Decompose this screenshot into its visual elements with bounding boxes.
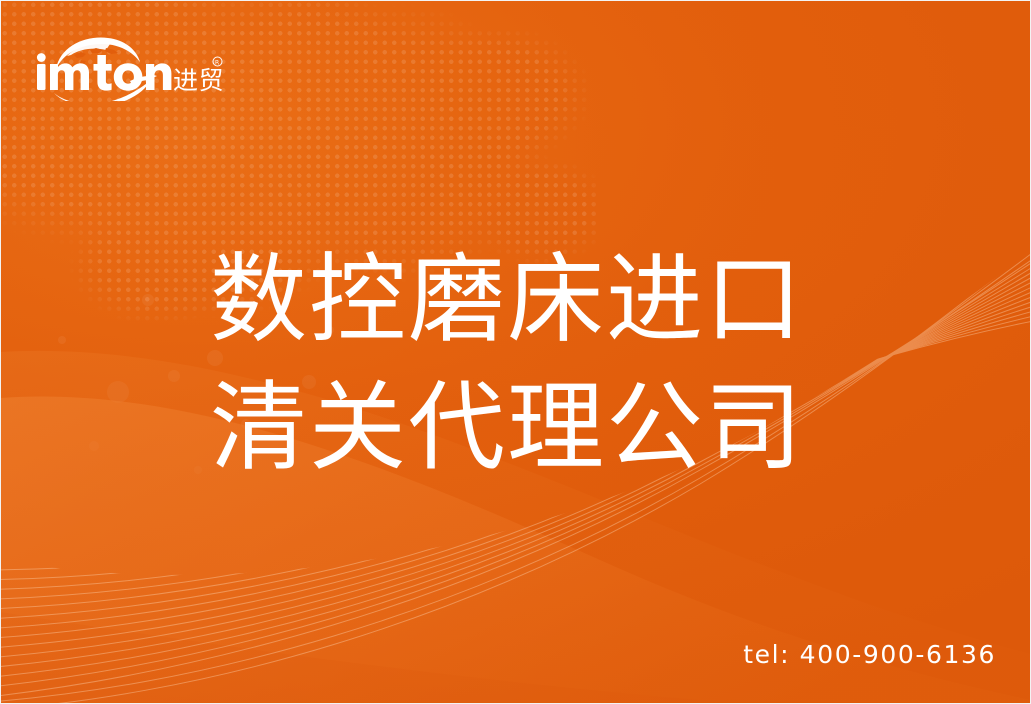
headline-line-2: 清关代理公司 bbox=[210, 364, 910, 492]
registered-trademark-letter: R bbox=[215, 60, 219, 67]
promotional-banner: 进贸通 R 数控磨床进口 清关代理公司 tel: 400-900-6136 bbox=[0, 0, 1031, 704]
contact-phone[interactable]: tel: 400-900-6136 bbox=[743, 640, 996, 669]
logo-wordmark-latin bbox=[37, 53, 172, 91]
headline-line-1: 数控磨床进口 bbox=[210, 236, 910, 364]
logo-mark: 进贸通 R bbox=[34, 33, 224, 101]
company-logo[interactable]: 进贸通 R bbox=[34, 33, 224, 101]
logo-wordmark-chinese: 进贸通 bbox=[173, 66, 224, 95]
page-title: 数控磨床进口 清关代理公司 bbox=[210, 236, 910, 492]
svg-text:进贸通: 进贸通 bbox=[173, 66, 224, 95]
